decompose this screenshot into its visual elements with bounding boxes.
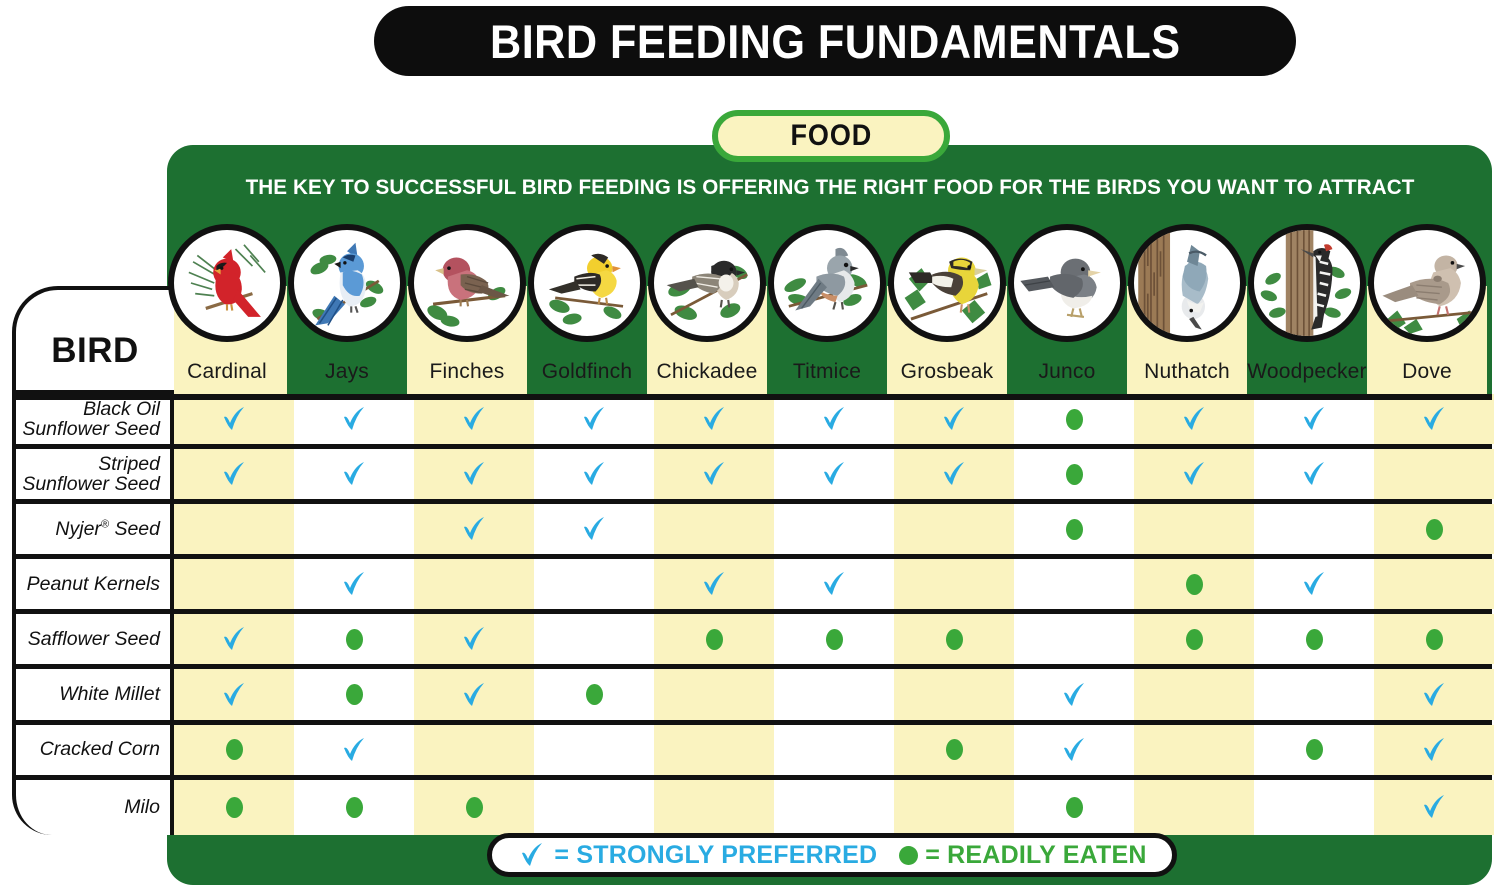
cell-nuthatch-empty	[1134, 780, 1254, 835]
cell-cardinal-check	[174, 394, 294, 444]
subtitle-text: THE KEY TO SUCCESSFUL BIRD FEEDING IS OF…	[206, 175, 1454, 200]
blue-check-icon	[819, 404, 849, 434]
green-dot-icon	[1426, 629, 1443, 650]
blue-check-icon	[459, 514, 489, 544]
blue-check-icon	[819, 459, 849, 489]
portrait-cell-woodpecker	[1247, 224, 1367, 346]
column-header-label: Jays	[325, 360, 369, 384]
green-dot-icon	[706, 629, 723, 650]
cell-finches-check	[414, 614, 534, 664]
row-label-text: White Millet	[59, 684, 160, 704]
row-label-cracked-corn: Cracked Corn	[12, 725, 174, 775]
row-label-black-oil-sunflower-seed: Black OilSunflower Seed	[12, 394, 174, 444]
blue-check-icon	[339, 459, 369, 489]
cell-titmice-empty	[774, 504, 894, 554]
table-row: Nyjer® Seed	[12, 504, 1492, 559]
cell-cardinal-check	[174, 614, 294, 664]
cell-jays-empty	[294, 504, 414, 554]
row-cells	[174, 449, 1494, 499]
row-cells	[174, 725, 1494, 775]
column-header-label: Dove	[1402, 360, 1452, 384]
column-header-label: Nuthatch	[1144, 360, 1230, 384]
row-label-text: Peanut Kernels	[27, 574, 160, 594]
cell-dove-check	[1374, 780, 1494, 835]
cell-goldfinch-empty	[534, 614, 654, 664]
cell-jays-check	[294, 394, 414, 444]
blue-check-icon	[579, 404, 609, 434]
cell-finches-check	[414, 669, 534, 719]
cell-woodpecker-empty	[1254, 669, 1374, 719]
column-header-label: Finches	[430, 360, 505, 384]
green-dot-icon	[226, 797, 243, 818]
grosbeak-portrait	[888, 224, 1006, 342]
row-label-milo: Milo	[12, 780, 174, 835]
portrait-cell-titmice	[767, 224, 887, 346]
portrait-cell-dove	[1367, 224, 1487, 346]
cell-junco-empty	[1014, 614, 1134, 664]
blue-check-icon	[219, 680, 249, 710]
cell-jays-dot	[294, 614, 414, 664]
cell-nuthatch-check	[1134, 449, 1254, 499]
page-title: BIRD FEEDING FUNDAMENTALS	[490, 14, 1181, 69]
green-dot-icon	[346, 629, 363, 650]
cell-titmice-dot	[774, 614, 894, 664]
blue-check-icon	[1179, 404, 1209, 434]
blue-check-icon	[1179, 459, 1209, 489]
cell-chickadee-empty	[654, 725, 774, 775]
cell-dove-dot	[1374, 614, 1494, 664]
green-dot-icon	[586, 684, 603, 705]
cell-dove-dot	[1374, 504, 1494, 554]
blue-check-icon	[459, 680, 489, 710]
blue-check-icon	[939, 404, 969, 434]
titmouse-portrait	[768, 224, 886, 342]
blue-check-icon	[1419, 404, 1449, 434]
green-dot-icon	[346, 684, 363, 705]
cell-junco-dot	[1014, 394, 1134, 444]
food-section-badge: FOOD	[712, 110, 950, 162]
row-label-safflower-seed: Safflower Seed	[12, 614, 174, 664]
table-row: Milo	[12, 780, 1492, 835]
cell-finches-check	[414, 449, 534, 499]
blue-check-icon	[699, 569, 729, 599]
finch-portrait	[408, 224, 526, 342]
column-header-label: Chickadee	[656, 360, 757, 384]
cell-finches-check	[414, 394, 534, 444]
cell-chickadee-dot	[654, 614, 774, 664]
green-dot-icon	[1186, 629, 1203, 650]
bird-corner-label-box: BIRD	[12, 286, 174, 394]
blue-check-icon	[579, 514, 609, 544]
cell-jays-check	[294, 449, 414, 499]
blue-check-icon	[579, 459, 609, 489]
blue-check-icon	[339, 569, 369, 599]
row-label-nyjer-seed: Nyjer® Seed	[12, 504, 174, 554]
blue-check-icon	[1299, 404, 1329, 434]
cell-cardinal-empty	[174, 559, 294, 609]
cell-finches-empty	[414, 559, 534, 609]
cell-dove-check	[1374, 669, 1494, 719]
green-dot-icon	[1306, 629, 1323, 650]
row-label-text: StripedSunflower Seed	[22, 454, 160, 495]
row-label-striped-sunflower-seed: StripedSunflower Seed	[12, 449, 174, 499]
blue-check-icon	[459, 459, 489, 489]
cell-nuthatch-dot	[1134, 614, 1254, 664]
cell-grosbeak-empty	[894, 669, 1014, 719]
row-cells	[174, 394, 1494, 444]
header-divider-rule	[12, 394, 1492, 400]
green-dot-icon	[1186, 574, 1203, 595]
cell-goldfinch-empty	[534, 780, 654, 835]
cell-grosbeak-dot	[894, 725, 1014, 775]
blue-check-icon	[819, 569, 849, 599]
legend-item-strongly-preferred: = STRONGLY PREFERRED	[517, 840, 877, 870]
cell-nuthatch-empty	[1134, 504, 1254, 554]
cell-goldfinch-check	[534, 394, 654, 444]
row-cells	[174, 780, 1494, 835]
cell-junco-dot	[1014, 780, 1134, 835]
cell-jays-dot	[294, 780, 414, 835]
cell-chickadee-check	[654, 449, 774, 499]
cell-cardinal-check	[174, 669, 294, 719]
column-header-label: Woodpecker	[1247, 360, 1367, 384]
blue-check-icon	[1419, 792, 1449, 822]
row-label-white-millet: White Millet	[12, 669, 174, 719]
green-dot-icon	[226, 739, 243, 760]
cell-chickadee-empty	[654, 669, 774, 719]
cell-chickadee-empty	[654, 780, 774, 835]
green-dot-icon	[1066, 519, 1083, 540]
table-row: Cracked Corn	[12, 725, 1492, 780]
table-row: StripedSunflower Seed	[12, 449, 1492, 504]
cell-woodpecker-empty	[1254, 780, 1374, 835]
cell-dove-empty	[1374, 449, 1494, 499]
green-dot-icon	[899, 846, 918, 865]
legend-dot-label: = READILY EATEN	[925, 841, 1146, 870]
blue-check-icon	[939, 459, 969, 489]
blue-check-icon	[1059, 680, 1089, 710]
cell-nuthatch-empty	[1134, 669, 1254, 719]
portrait-cell-nuthatch	[1127, 224, 1247, 346]
table-row: White Millet	[12, 669, 1492, 724]
cell-cardinal-dot	[174, 780, 294, 835]
cell-finches-check	[414, 504, 534, 554]
row-label-peanut-kernels: Peanut Kernels	[12, 559, 174, 609]
green-dot-icon	[946, 629, 963, 650]
cell-woodpecker-check	[1254, 394, 1374, 444]
portrait-cell-grosbeak	[887, 224, 1007, 346]
blue-check-icon	[459, 624, 489, 654]
cell-junco-check	[1014, 669, 1134, 719]
cell-grosbeak-check	[894, 449, 1014, 499]
green-dot-icon	[1066, 409, 1083, 430]
cell-finches-dot	[414, 780, 534, 835]
cell-chickadee-empty	[654, 504, 774, 554]
blue-check-icon	[459, 404, 489, 434]
cell-titmice-empty	[774, 669, 894, 719]
row-cells	[174, 559, 1494, 609]
food-badge-label: FOOD	[790, 119, 872, 153]
cell-woodpecker-check	[1254, 449, 1374, 499]
cell-titmice-check	[774, 449, 894, 499]
cell-cardinal-check	[174, 449, 294, 499]
portrait-cell-goldfinch	[527, 224, 647, 346]
blue-check-icon	[219, 459, 249, 489]
blue-check-icon	[699, 404, 729, 434]
column-header-label: Grosbeak	[901, 360, 994, 384]
green-dot-icon	[946, 739, 963, 760]
row-label-text: Milo	[124, 797, 160, 817]
cell-nuthatch-empty	[1134, 725, 1254, 775]
cell-goldfinch-dot	[534, 669, 654, 719]
cell-titmice-check	[774, 394, 894, 444]
row-cells	[174, 614, 1494, 664]
blue-check-icon	[699, 459, 729, 489]
portrait-cell-chickadee	[647, 224, 767, 346]
cell-finches-empty	[414, 725, 534, 775]
cell-junco-dot	[1014, 504, 1134, 554]
chickadee-portrait	[648, 224, 766, 342]
portrait-cell-junco	[1007, 224, 1127, 346]
legend-item-readily-eaten: = READILY EATEN	[899, 841, 1146, 870]
bird-portrait-row	[167, 224, 1487, 346]
table-body: Black OilSunflower SeedStripedSunflower …	[12, 394, 1492, 835]
row-label-text: Cracked Corn	[40, 739, 160, 759]
green-dot-icon	[1426, 519, 1443, 540]
column-header-label: Titmice	[793, 360, 861, 384]
jay-portrait	[288, 224, 406, 342]
row-label-text: Safflower Seed	[28, 629, 160, 649]
legend-check-label: = STRONGLY PREFERRED	[554, 841, 877, 870]
registered-mark: ®	[101, 519, 109, 531]
cardinal-portrait	[168, 224, 286, 342]
cell-titmice-check	[774, 559, 894, 609]
blue-check-icon	[1299, 459, 1329, 489]
cell-grosbeak-dot	[894, 614, 1014, 664]
blue-check-icon	[1059, 735, 1089, 765]
cell-junco-check	[1014, 725, 1134, 775]
cell-junco-empty	[1014, 559, 1134, 609]
green-dot-icon	[1306, 739, 1323, 760]
cell-chickadee-check	[654, 559, 774, 609]
cell-goldfinch-check	[534, 504, 654, 554]
cell-dove-empty	[1374, 559, 1494, 609]
cell-goldfinch-check	[534, 449, 654, 499]
blue-check-icon	[339, 735, 369, 765]
cell-goldfinch-empty	[534, 725, 654, 775]
legend-bar: = STRONGLY PREFERRED = READILY EATEN	[487, 833, 1177, 877]
cell-woodpecker-empty	[1254, 504, 1374, 554]
column-header-label: Junco	[1038, 360, 1095, 384]
cell-nuthatch-dot	[1134, 559, 1254, 609]
cell-cardinal-empty	[174, 504, 294, 554]
table-row: Peanut Kernels	[12, 559, 1492, 614]
cell-nuthatch-check	[1134, 394, 1254, 444]
green-dot-icon	[466, 797, 483, 818]
nuthatch-portrait	[1128, 224, 1246, 342]
bird-food-table: CardinalJaysFinchesGoldfinchChickadeeTit…	[12, 286, 1492, 835]
blue-check-icon	[219, 404, 249, 434]
row-label-text: Black OilSunflower Seed	[22, 399, 160, 440]
cell-goldfinch-empty	[534, 559, 654, 609]
cell-grosbeak-empty	[894, 504, 1014, 554]
dove-portrait	[1368, 224, 1486, 342]
cell-jays-check	[294, 725, 414, 775]
cell-grosbeak-empty	[894, 559, 1014, 609]
column-header-label: Goldfinch	[542, 360, 633, 384]
bird-corner-label: BIRD	[51, 331, 139, 371]
cell-woodpecker-check	[1254, 559, 1374, 609]
cell-junco-dot	[1014, 449, 1134, 499]
row-cells	[174, 669, 1494, 719]
portrait-cell-jays	[287, 224, 407, 346]
cell-jays-dot	[294, 669, 414, 719]
cell-dove-check	[1374, 394, 1494, 444]
green-dot-icon	[826, 629, 843, 650]
cell-jays-check	[294, 559, 414, 609]
green-dot-icon	[346, 797, 363, 818]
column-header-label: Cardinal	[187, 360, 267, 384]
cell-grosbeak-empty	[894, 780, 1014, 835]
green-dot-icon	[1066, 464, 1083, 485]
junco-portrait	[1008, 224, 1126, 342]
blue-check-icon	[517, 840, 547, 870]
title-bar: BIRD FEEDING FUNDAMENTALS	[374, 6, 1296, 76]
woodpecker-portrait	[1248, 224, 1366, 342]
cell-chickadee-check	[654, 394, 774, 444]
cell-titmice-empty	[774, 725, 894, 775]
portrait-cell-finches	[407, 224, 527, 346]
row-label-text: Nyjer® Seed	[55, 519, 160, 539]
table-row: Black OilSunflower Seed	[12, 394, 1492, 449]
blue-check-icon	[1419, 680, 1449, 710]
row-cells	[174, 504, 1494, 554]
cell-cardinal-dot	[174, 725, 294, 775]
goldfinch-portrait	[528, 224, 646, 342]
blue-check-icon	[1299, 569, 1329, 599]
cell-woodpecker-dot	[1254, 725, 1374, 775]
green-dot-icon	[1066, 797, 1083, 818]
blue-check-icon	[1419, 735, 1449, 765]
blue-check-icon	[219, 624, 249, 654]
cell-dove-check	[1374, 725, 1494, 775]
cell-titmice-empty	[774, 780, 894, 835]
portrait-cell-cardinal	[167, 224, 287, 346]
table-row: Safflower Seed	[12, 614, 1492, 669]
blue-check-icon	[339, 404, 369, 434]
cell-grosbeak-check	[894, 394, 1014, 444]
cell-woodpecker-dot	[1254, 614, 1374, 664]
